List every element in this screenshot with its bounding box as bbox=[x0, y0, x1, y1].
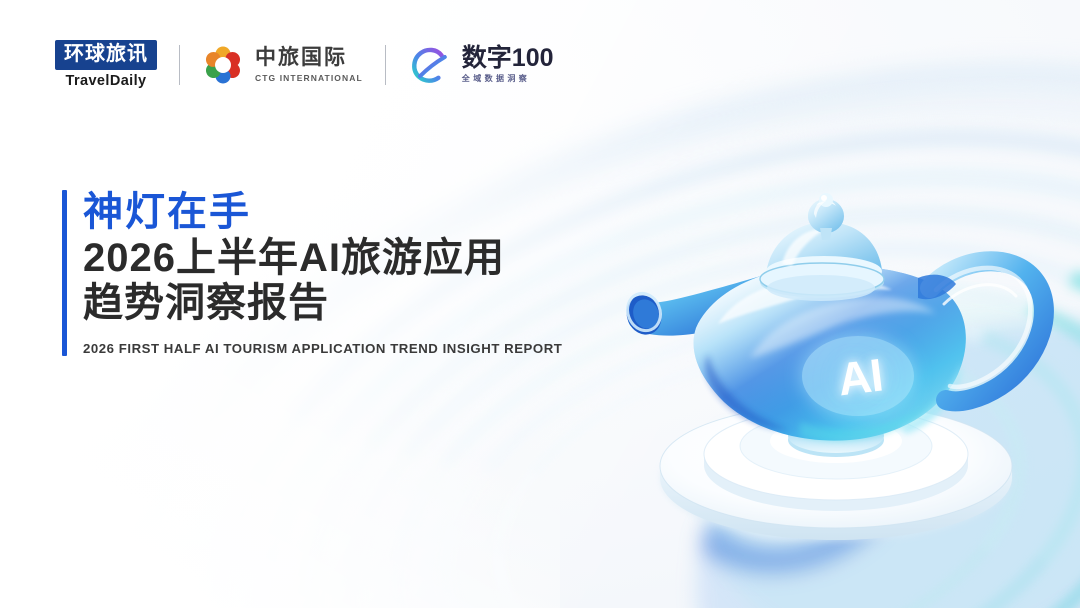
ctg-en-label: CTG INTERNATIONAL bbox=[255, 73, 363, 83]
title-lines: 神灯在手 2026上半年AI旅游应用 趋势洞察报告 2026 FIRST HAL… bbox=[83, 190, 562, 356]
logo-divider-1 bbox=[179, 45, 180, 85]
flower-star-icon bbox=[202, 44, 244, 86]
shuzi100-cn-label: 数字100 bbox=[462, 45, 554, 71]
logo-ctg-international: 中旅国际 CTG INTERNATIONAL bbox=[202, 44, 363, 86]
report-cover: 环球旅讯 TravelDaily bbox=[0, 0, 1080, 608]
title-line-2: 2026上半年AI旅游应用 bbox=[83, 236, 562, 282]
logo-shuzi100: 数字100 全域数据洞察 bbox=[408, 45, 554, 85]
title-subtitle: 2026 FIRST HALF AI TOURISM APPLICATION T… bbox=[83, 341, 562, 356]
title-block: 神灯在手 2026上半年AI旅游应用 趋势洞察报告 2026 FIRST HAL… bbox=[62, 190, 562, 356]
traveldaily-badge: 环球旅讯 bbox=[55, 40, 157, 70]
shuzi100-sub-label: 全域数据洞察 bbox=[462, 73, 554, 84]
traveldaily-cn-label: 环球旅讯 bbox=[64, 44, 148, 65]
logo-divider-2 bbox=[385, 45, 386, 85]
title-line-1: 神灯在手 bbox=[83, 190, 562, 236]
ai-halo bbox=[802, 336, 914, 416]
ctg-cn-label: 中旅国际 bbox=[255, 46, 363, 69]
lamp-lid-group bbox=[760, 193, 884, 301]
gradient-swoosh-icon bbox=[408, 45, 452, 85]
logo-traveldaily: 环球旅讯 TravelDaily bbox=[55, 40, 157, 89]
title-accent-rule bbox=[62, 190, 67, 356]
ctg-text-block: 中旅国际 CTG INTERNATIONAL bbox=[255, 46, 363, 82]
shuzi100-text-block: 数字100 全域数据洞察 bbox=[462, 45, 554, 84]
title-line-3: 趋势洞察报告 bbox=[83, 281, 562, 327]
magic-lamp-illustration: AI bbox=[600, 178, 1080, 558]
header-logo-bar: 环球旅讯 TravelDaily bbox=[55, 40, 554, 89]
traveldaily-en-label: TravelDaily bbox=[66, 73, 147, 89]
